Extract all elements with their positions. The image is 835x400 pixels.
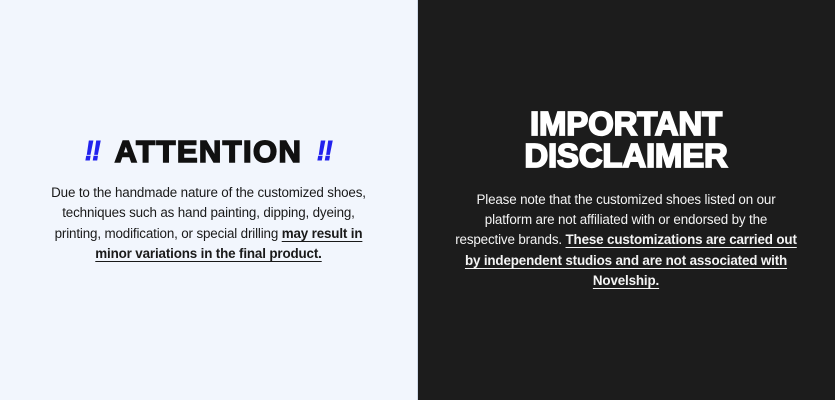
attention-content: !! ATTENTION !! Due to the handmade natu… bbox=[0, 136, 417, 265]
disclaimer-body-text: Please note that the customized shoes li… bbox=[454, 190, 799, 292]
attention-body-text: Due to the handmade nature of the custom… bbox=[44, 183, 374, 265]
panel-divider bbox=[417, 0, 418, 400]
customization-notice-banner: !! ATTENTION !! Due to the handmade natu… bbox=[0, 0, 835, 400]
attention-heading-row: !! ATTENTION !! bbox=[84, 136, 333, 167]
disclaimer-panel: IMPORTANT DISCLAIMER Please note that th… bbox=[417, 0, 835, 400]
disclaimer-title-line-2: DISCLAIMER bbox=[524, 140, 727, 172]
disclaimer-content: IMPORTANT DISCLAIMER Please note that th… bbox=[417, 108, 835, 291]
disclaimer-title-line-1: IMPORTANT bbox=[524, 108, 727, 140]
double-exclamation-left-icon: !! bbox=[85, 137, 100, 165]
disclaimer-title: IMPORTANT DISCLAIMER bbox=[524, 108, 727, 171]
double-exclamation-right-icon: !! bbox=[317, 137, 332, 165]
attention-panel: !! ATTENTION !! Due to the handmade natu… bbox=[0, 0, 417, 400]
attention-title: ATTENTION bbox=[115, 136, 303, 167]
